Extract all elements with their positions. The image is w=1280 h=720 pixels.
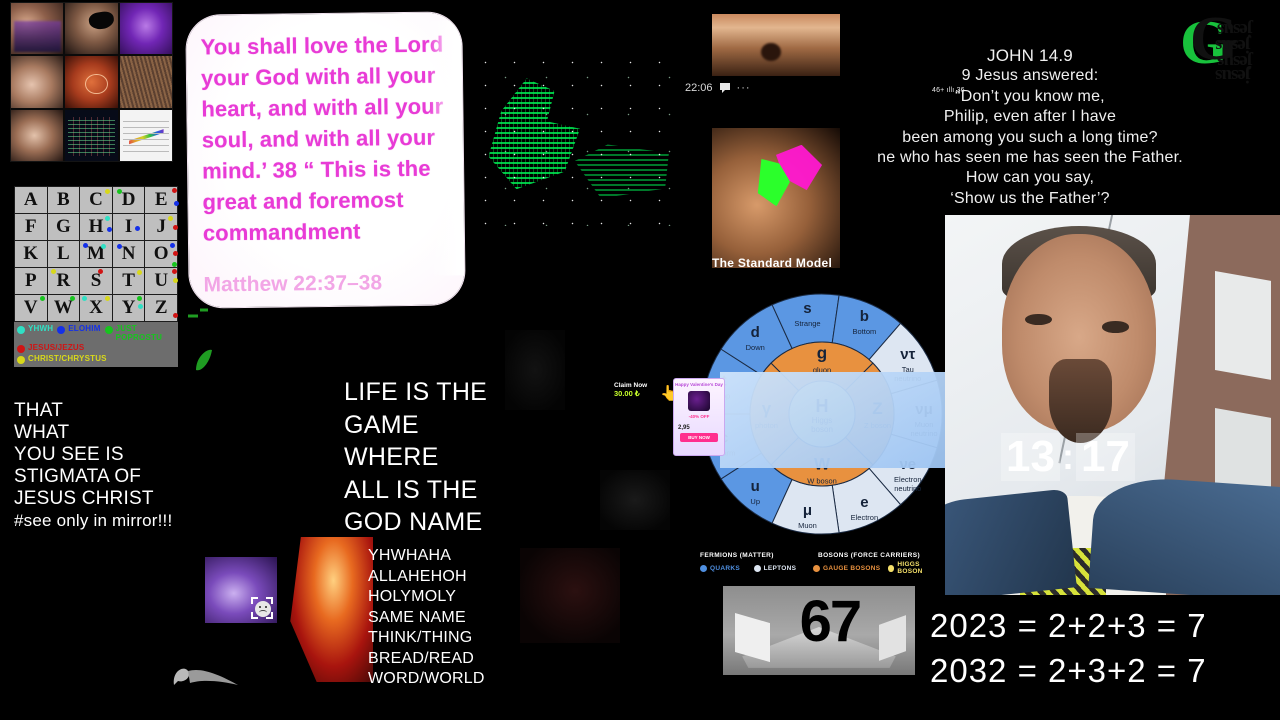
sm-legend-leptons: LEPTONS <box>754 561 813 575</box>
john-line-5: How can you say, <box>830 168 1230 188</box>
clock-hours: 13 <box>1001 433 1060 481</box>
life-line-1: GAME <box>344 409 544 442</box>
sm-outer-name-u: Up <box>750 497 760 506</box>
channel-logo: G G jesus jesus jesus jesus <box>1178 8 1276 94</box>
alphabet-cell-letter: T <box>122 270 135 291</box>
book-sheet-left <box>735 613 770 662</box>
alphabet-cell-w[interactable]: W <box>48 295 80 321</box>
numerology-equations: 2023 = 2+2+3 = 7 2032 = 2+3+2 = 7 <box>930 603 1207 693</box>
john-line-1: “Don’t you know me, <box>830 87 1230 107</box>
sm-outer-symbol-μ: μ <box>803 502 812 519</box>
logo-word-4: jesus <box>1216 64 1251 86</box>
alphabet-cell-f[interactable]: F <box>15 214 47 240</box>
sm-swatch-quarks <box>700 565 707 572</box>
alphabet-cell-r[interactable]: R <box>48 268 80 294</box>
alphabet-cell-letter: U <box>154 270 168 291</box>
alphabet-cell-z[interactable]: Z <box>145 295 177 321</box>
john-line-2: Philip, even after I have <box>830 107 1230 127</box>
sm-legend-quarks: QUARKS <box>700 561 754 575</box>
post-meta-bar: 22:06 ··· <box>685 82 751 94</box>
collage-photo-1 <box>11 3 63 54</box>
alphabet-cell-letter: B <box>57 189 70 210</box>
red-texture-photo <box>285 537 373 682</box>
sm-outer-symbol-d: d <box>751 324 760 341</box>
alphabet-marker-dot <box>138 304 143 309</box>
legend-swatch-christ <box>17 356 25 364</box>
alphabet-cell-c[interactable]: C <box>80 187 112 213</box>
alphabet-cell-letter: Z <box>155 297 168 318</box>
ad-title: Happy Valentine's Day <box>674 382 724 387</box>
john-line-0: 9 Jesus answered: <box>830 66 1230 86</box>
names-line-6: WORD/WORLD <box>368 669 528 690</box>
legend-swatch-jesus <box>17 345 25 353</box>
alphabet-cell-o[interactable]: O <box>145 241 177 267</box>
stigmata-line-4: JESUS CHRIST <box>14 488 224 510</box>
alphabet-marker-dot <box>135 226 140 231</box>
alphabet-marker-dot <box>107 227 112 232</box>
alphabet-marker-dot <box>137 296 142 301</box>
ad-product-image <box>688 391 710 411</box>
alphabet-legend: YHWH ELOHIM JUST POPROSTU JESUS/JEZUS <box>14 322 178 367</box>
alphabet-marker-dot <box>105 189 110 194</box>
webcam-feed: 13 : 17 <box>945 215 1280 595</box>
alphabet-cell-letter: R <box>57 270 71 291</box>
life-line-0: LIFE IS THE <box>344 376 544 409</box>
sm-label-quarks: QUARKS <box>710 565 740 572</box>
alphabet-cell-h[interactable]: H <box>80 214 112 240</box>
green-doodle-icon <box>186 300 214 322</box>
post-timestamp: 22:06 <box>685 82 713 94</box>
scripture-text: You shall love the Lord your God with al… <box>200 29 450 249</box>
alphabet-cell-letter: L <box>57 243 70 264</box>
skin-photo-top <box>712 14 840 76</box>
sm-legend-gauge-bosons: GAUGE BOSONS <box>813 561 888 575</box>
collage-photo-2 <box>65 3 117 54</box>
clock-minutes-value: 17 <box>1081 432 1130 481</box>
names-line-2: HOLYMOLY <box>368 587 528 608</box>
stigmata-caption: THAT WHAT YOU SEE IS STIGMATA OF JESUS C… <box>14 400 224 532</box>
alphabet-cell-m[interactable]: M <box>80 241 112 267</box>
life-line-4: GOD NAME <box>344 506 544 539</box>
clock-overlay: 13 : 17 <box>1001 433 1135 481</box>
life-caption: LIFE IS THE GAME WHERE ALL IS THE GOD NA… <box>344 376 544 539</box>
alphabet-cell-e[interactable]: E <box>145 187 177 213</box>
collage-photo-9 <box>120 110 172 161</box>
alphabet-marker-dot <box>117 189 122 194</box>
webcam-eye-right <box>1102 321 1129 332</box>
collage-photo-8 <box>65 110 117 161</box>
dark-photo-b <box>600 470 670 530</box>
legend-header-bosons: BOSONS (FORCE CARRIERS) <box>818 552 920 559</box>
alphabet-cell-d[interactable]: D <box>113 187 145 213</box>
ellipsis-icon[interactable]: ··· <box>737 82 751 94</box>
stigmata-line-2: YOU SEE IS <box>14 444 224 466</box>
sm-outer-name-νe: Electron <box>894 475 922 484</box>
focus-frame-icon <box>251 597 273 619</box>
sm-outer-name-e: Electron <box>851 513 879 522</box>
names-line-3: SAME NAME <box>368 608 528 629</box>
alphabet-marker-dot <box>105 216 110 221</box>
clock-separator: : <box>1062 433 1074 481</box>
sm-label-gauge-bosons: GAUGE BOSONS <box>823 565 880 572</box>
sm-inner-symbol-g: g <box>817 344 827 363</box>
card-fade-mask <box>427 20 464 275</box>
phone-status-bar: 46+ ıllı 36 <box>932 87 965 94</box>
alphabet-panel: ABCDEFGHIJKLMNOPRSTUVWXYZ YHWH ELOHIM JU… <box>14 186 178 367</box>
skin-photo-annotated <box>712 128 840 268</box>
alphabet-cell-n[interactable]: N <box>113 241 145 267</box>
sm-swatch-higgs <box>888 565 895 572</box>
grey-doodle-icon <box>168 645 268 690</box>
names-line-5: BREAD/READ <box>368 649 528 670</box>
alphabet-cell-k[interactable]: K <box>15 241 47 267</box>
legend-item-elohim: ELOHIM <box>57 324 100 334</box>
purple-photo <box>205 557 277 623</box>
alphabet-marker-dot <box>98 269 103 274</box>
alphabet-cell-letter: P <box>25 270 37 291</box>
alphabet-marker-dot <box>170 243 175 248</box>
alphabet-cell-letter: G <box>56 216 71 237</box>
john-line-6: ‘Show us the Father’? <box>830 189 1230 209</box>
sm-outer-symbol-s: s <box>803 300 811 317</box>
collage-photo-4 <box>11 56 63 107</box>
clock-hours-value: 13 <box>1006 432 1055 481</box>
names-line-1: ALLAHEHOH <box>368 567 528 588</box>
collage-photo-3 <box>120 3 172 54</box>
sm-inner-name-W: W boson <box>807 477 837 486</box>
names-line-0: YHWHAHA <box>368 546 528 567</box>
matrix-particles <box>468 46 673 226</box>
alphabet-marker-dot <box>117 244 122 249</box>
standard-model-title: The Standard Model <box>712 256 922 270</box>
alphabet-marker-dot <box>174 201 179 206</box>
alphabet-cell-letter: A <box>24 189 38 210</box>
sm-swatch-leptons <box>754 565 761 572</box>
ad-price: 2,95 <box>678 425 724 431</box>
legend-label-yhwh: YHWH <box>28 324 53 333</box>
sm-legend-higgs: HIGGS BOSON <box>888 561 945 575</box>
alphabet-marker-dot <box>168 216 173 221</box>
sm-outer-name-s: Strange <box>794 319 820 328</box>
alphabet-cell-s[interactable]: S <box>80 268 112 294</box>
alphabet-marker-dot <box>83 243 88 248</box>
alphabet-marker-dot <box>173 313 178 318</box>
stream-canvas: ABCDEFGHIJKLMNOPRSTUVWXYZ YHWH ELOHIM JU… <box>0 0 1280 720</box>
collage-photo-6 <box>120 56 172 107</box>
stigmata-line-1: WHAT <box>14 422 224 444</box>
john-title: JOHN 14.9 <box>830 46 1230 66</box>
legend-label-elohim: ELOHIM <box>68 324 100 333</box>
sm-outer-name-μ: Muon <box>798 521 817 530</box>
stigmata-line-0: THAT <box>14 400 224 422</box>
legend-item-jesus: JESUS/JEZUS <box>17 343 84 353</box>
alphabet-marker-dot <box>105 296 110 301</box>
alphabet-cell-letter: H <box>89 216 104 237</box>
alphabet-cell-u[interactable]: U <box>145 268 177 294</box>
equation-line-0: 2023 = 2+2+3 = 7 <box>930 603 1207 648</box>
sm-outer-name-b: Bottom <box>852 327 876 336</box>
legend-swatch-yhwh <box>17 326 25 334</box>
stigmata-line-3: STIGMATA OF <box>14 466 224 488</box>
book-photo: 67 <box>723 586 915 675</box>
alphabet-cell-letter: K <box>23 243 38 264</box>
legend-item-christ: CHRIST/CHRYSTUS <box>17 354 107 364</box>
alphabet-cell-letter: N <box>122 243 136 264</box>
alphabet-marker-dot <box>172 269 177 274</box>
green-leaf-icon <box>192 346 214 374</box>
alphabet-cell-j[interactable]: J <box>145 214 177 240</box>
sm-outer-name-d: Down <box>746 343 765 352</box>
collage-photo-7 <box>11 110 63 161</box>
comment-icon[interactable] <box>719 82 731 94</box>
alphabet-grid: ABCDEFGHIJKLMNOPRSTUVWXYZ <box>14 186 178 322</box>
alphabet-cell-letter: O <box>154 243 169 264</box>
sm-outer-symbol-b: b <box>860 308 869 325</box>
alphabet-cell-i[interactable]: I <box>113 214 145 240</box>
ad-buy-button[interactable]: BUY NOW <box>680 433 718 442</box>
alphabet-cell-letter: D <box>122 189 136 210</box>
valentines-ad-popup[interactable]: Happy Valentine's Day -40% OFF 2,95 BUY … <box>673 378 725 456</box>
alphabet-cell-g[interactable]: G <box>48 214 80 240</box>
legend-label-christ: CHRIST/CHRYSTUS <box>28 354 107 363</box>
legend-label-just-poprostu: JUST POPROSTU <box>116 324 162 342</box>
alphabet-marker-dot <box>172 262 177 267</box>
scripture-card: You shall love the Lord your God with al… <box>186 12 465 307</box>
sm-outer-symbol-ντ: ντ <box>900 346 915 363</box>
alphabet-cell-letter: V <box>24 297 38 318</box>
alphabet-cell-p[interactable]: P <box>15 268 47 294</box>
alphabet-cell-t[interactable]: T <box>113 268 145 294</box>
alphabet-cell-letter: Y <box>122 297 136 318</box>
alphabet-marker-dot <box>173 278 178 283</box>
alphabet-cell-letter: I <box>125 216 132 237</box>
photo-collage-grid <box>10 2 173 162</box>
alphabet-marker-dot <box>173 251 178 256</box>
names-caption: YHWHAHA ALLAHEHOH HOLYMOLY SAME NAME THI… <box>368 546 528 690</box>
life-line-3: ALL IS THE <box>344 474 544 507</box>
alphabet-marker-dot <box>40 296 45 301</box>
sm-outer-symbol-e: e <box>860 494 868 511</box>
john-line-3: been among you such a long time? <box>830 128 1230 148</box>
scripture-reference: Matthew 22:37–38 <box>203 271 382 297</box>
alphabet-cell-y[interactable]: Y <box>113 295 145 321</box>
legend-item-just-poprostu: JUST POPROSTU <box>105 324 162 342</box>
alphabet-cell-letter: F <box>25 216 37 237</box>
book-number: 67 <box>800 588 861 655</box>
standard-model-legend: FERMIONS (MATTER) BOSONS (FORCE CARRIERS… <box>700 552 945 575</box>
sm-swatch-gauge-bosons <box>813 565 820 572</box>
alphabet-cell-v[interactable]: V <box>15 295 47 321</box>
webcam-jacket-right <box>1089 474 1280 595</box>
collage-photo-5 <box>65 56 117 107</box>
john-line-4: ne who has seen me has seen the Father. <box>830 148 1230 168</box>
alphabet-cell-a[interactable]: A <box>15 187 47 213</box>
webcam-jacket-left <box>945 489 1077 595</box>
book-sheet-right <box>879 615 906 660</box>
alphabet-marker-dot <box>172 188 177 193</box>
alphabet-cell-x[interactable]: X <box>80 295 112 321</box>
legend-swatch-elohim <box>57 326 65 334</box>
webcam-beard <box>1049 359 1113 443</box>
legend-item-yhwh: YHWH <box>17 324 53 334</box>
alphabet-marker-dot <box>82 296 87 301</box>
john-scripture-overlay: JOHN 14.9 9 Jesus answered: “Don’t you k… <box>830 46 1230 209</box>
alphabet-marker-dot <box>101 244 106 249</box>
sm-outer-symbol-u: u <box>751 478 760 495</box>
legend-header-fermions: FERMIONS (MATTER) <box>700 552 818 559</box>
alphabet-cell-b[interactable]: B <box>48 187 80 213</box>
matrix-code-image <box>468 46 673 226</box>
stigmata-hashtag: #see only in mirror!!! <box>14 510 224 532</box>
stigmata-line-0-text: THAT <box>14 400 63 421</box>
alphabet-cell-letter: C <box>89 189 103 210</box>
alphabet-marker-dot <box>137 270 142 275</box>
life-line-2: WHERE <box>344 441 544 474</box>
names-line-4: THINK/THING <box>368 628 528 649</box>
alphabet-cell-l[interactable]: L <box>48 241 80 267</box>
alphabet-cell-letter: X <box>89 297 103 318</box>
blue-background-tile <box>720 372 945 468</box>
clock-minutes: 17 <box>1076 433 1135 481</box>
alphabet-cell-letter: J <box>156 216 166 237</box>
sm-label-leptons: LEPTONS <box>764 565 797 572</box>
alphabet-marker-dot <box>173 225 178 230</box>
equation-line-1: 2032 = 2+3+2 = 7 <box>930 648 1207 693</box>
sm-label-higgs: HIGGS BOSON <box>897 561 945 575</box>
legend-label-jesus: JESUS/JEZUS <box>28 343 84 352</box>
dark-photo-a <box>520 548 620 643</box>
alphabet-cell-letter: E <box>155 189 168 210</box>
sm-outer-name-νe: neutrino <box>894 484 921 493</box>
ad-discount: -40% OFF <box>674 414 724 419</box>
alphabet-marker-dot <box>70 296 75 301</box>
legend-swatch-just-poprostu <box>105 326 113 334</box>
